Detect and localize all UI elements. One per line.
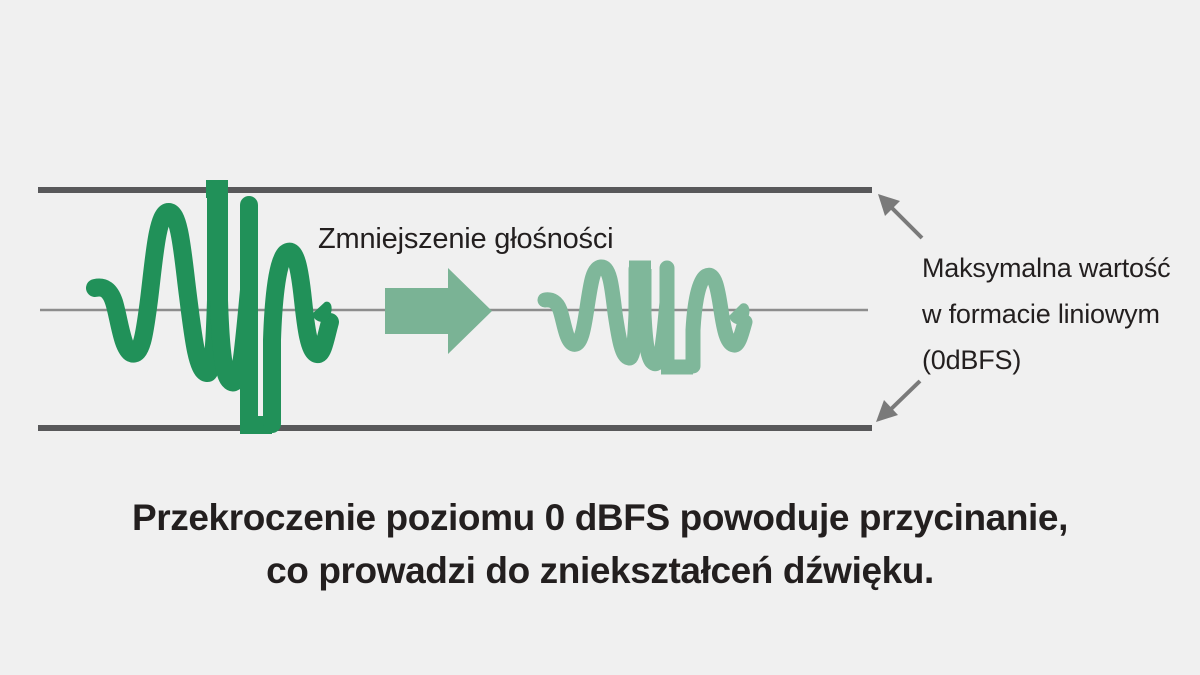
max-value-label-line2: w formacie liniowym	[921, 299, 1160, 329]
volume-reduction-label: Zmniejszenie głośności	[318, 223, 613, 255]
clipping-diagram: Zmniejszenie głośności Maksymalna wartoś…	[0, 0, 1200, 675]
caption-line-2: co prowadzi do zniekształceń dźwięku.	[266, 550, 934, 591]
caption-line-1: Przekroczenie poziomu 0 dBFS powoduje pr…	[132, 497, 1068, 538]
max-value-label-line3: (0dBFS)	[922, 345, 1021, 375]
figure-canvas: Zmniejszenie głośności Maksymalna wartoś…	[0, 0, 1200, 675]
max-value-label-line1: Maksymalna wartość	[922, 253, 1170, 283]
